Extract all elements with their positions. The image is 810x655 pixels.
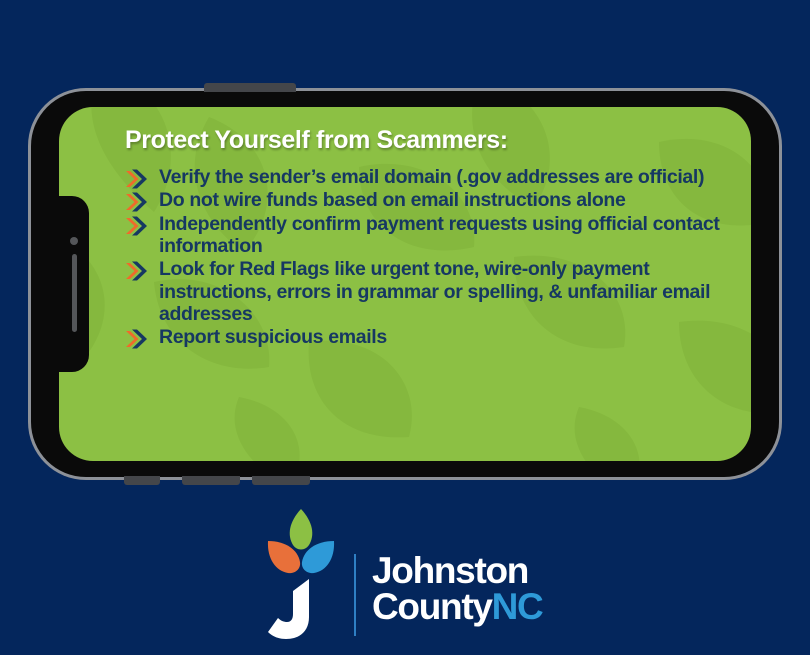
volume-up-button[interactable]	[182, 476, 240, 485]
tip-text: Look for Red Flags like urgent tone, wir…	[159, 258, 710, 325]
tips-list: Verify the sender’s email domain (.gov a…	[125, 166, 729, 349]
tip-text: Report suspicious emails	[159, 326, 387, 348]
johnston-county-logo: Johnston CountyNC	[262, 505, 572, 645]
phone-screen: Protect Yourself from Scammers: Verify t…	[59, 107, 751, 461]
tip-text: Do not wire funds based on email instruc…	[159, 189, 625, 211]
silent-switch[interactable]	[124, 476, 160, 485]
power-button[interactable]	[204, 83, 296, 92]
double-chevron-right-icon	[125, 260, 151, 282]
logo-line-county-nc: CountyNC	[372, 589, 542, 625]
tip-item: Independently confirm payment requests u…	[125, 213, 729, 258]
tip-item: Report suspicious emails	[125, 326, 729, 348]
slide-content: Protect Yourself from Scammers: Verify t…	[59, 107, 751, 461]
logo-divider	[354, 554, 356, 636]
tip-text: Verify the sender’s email domain (.gov a…	[159, 166, 704, 188]
logo-county-text: County	[372, 586, 492, 627]
earpiece-speaker-icon	[72, 254, 77, 332]
logo-nc-text: NC	[492, 586, 543, 627]
tip-text: Independently confirm payment requests u…	[159, 213, 720, 257]
tip-item: Do not wire funds based on email instruc…	[125, 189, 729, 211]
slide-title: Protect Yourself from Scammers:	[125, 126, 729, 155]
double-chevron-right-icon	[125, 215, 151, 237]
double-chevron-right-icon	[125, 328, 151, 350]
logo-line-johnston: Johnston	[372, 553, 542, 589]
phone-mockup: Protect Yourself from Scammers: Verify t…	[28, 88, 782, 480]
front-camera-icon	[70, 237, 78, 245]
volume-down-button[interactable]	[252, 476, 310, 485]
double-chevron-right-icon	[125, 191, 151, 213]
logo-wordmark: Johnston CountyNC	[372, 553, 542, 626]
tip-item: Look for Red Flags like urgent tone, wir…	[125, 258, 729, 325]
johnston-county-leaf-j-icon	[262, 505, 340, 645]
tip-item: Verify the sender’s email domain (.gov a…	[125, 166, 729, 188]
phone-notch	[59, 196, 89, 372]
double-chevron-right-icon	[125, 168, 151, 190]
